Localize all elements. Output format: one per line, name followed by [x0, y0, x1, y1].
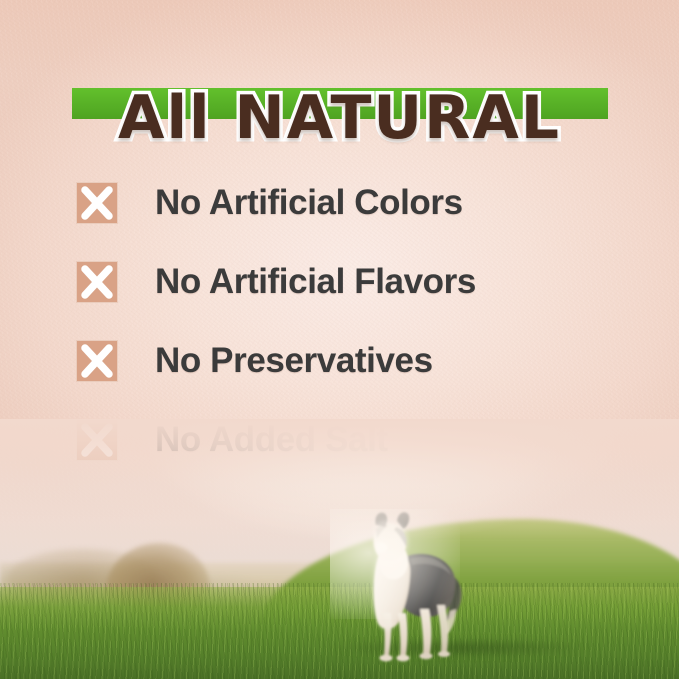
claim-label: No Artificial Colors — [155, 183, 463, 223]
lifestyle-photo — [0, 419, 679, 679]
list-item: No Artificial Flavors — [76, 261, 636, 303]
sun-bloom — [0, 419, 679, 679]
claim-label: No Artificial Flavors — [155, 262, 476, 302]
list-item: No Artificial Colors — [76, 182, 636, 224]
x-mark-icon — [76, 261, 118, 303]
list-item: No Preservatives — [76, 340, 636, 382]
x-mark-icon — [76, 340, 118, 382]
headline-banner: All NATURAL — [0, 44, 679, 134]
claim-label: No Preservatives — [155, 341, 433, 381]
x-mark-icon — [76, 182, 118, 224]
product-feature-poster: All NATURAL No Artificial Colors No Arti… — [0, 0, 679, 679]
page-title: All NATURAL — [0, 88, 679, 148]
